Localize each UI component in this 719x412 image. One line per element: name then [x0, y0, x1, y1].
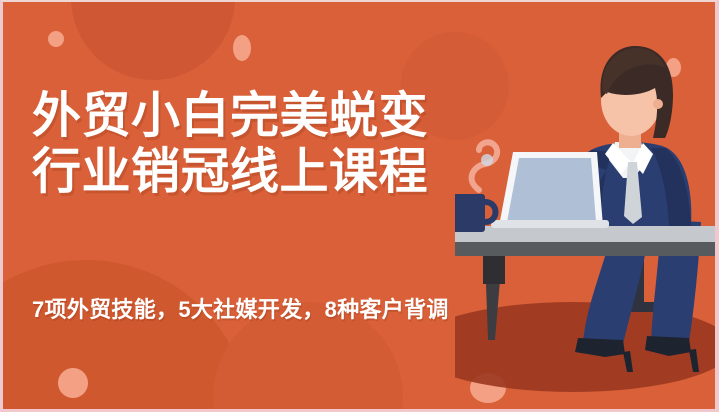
decor-circle-bottom-left — [3, 260, 251, 409]
title-line-2: 行业销冠线上课程 — [32, 144, 552, 200]
decor-dot-2 — [233, 35, 251, 61]
course-promo-banner: 外贸小白完美蜕变 行业销冠线上课程 7项外贸技能，5大社媒开发，8种客户背调 — [0, 0, 719, 412]
decor-dot-1 — [48, 31, 64, 47]
banner-subtitle: 7项外贸技能，5大社媒开发，8种客户背调 — [32, 295, 449, 325]
decor-dot-4 — [58, 368, 88, 398]
banner-stage: 外贸小白完美蜕变 行业销冠线上课程 7项外贸技能，5大社媒开发，8种客户背调 — [3, 2, 715, 409]
banner-title: 外贸小白完美蜕变 行业销冠线上课程 — [32, 88, 552, 200]
businesswoman-at-desk-illustration — [455, 2, 715, 409]
title-line-1: 外贸小白完美蜕变 — [32, 88, 552, 144]
decor-circle-top-left — [71, 2, 235, 80]
